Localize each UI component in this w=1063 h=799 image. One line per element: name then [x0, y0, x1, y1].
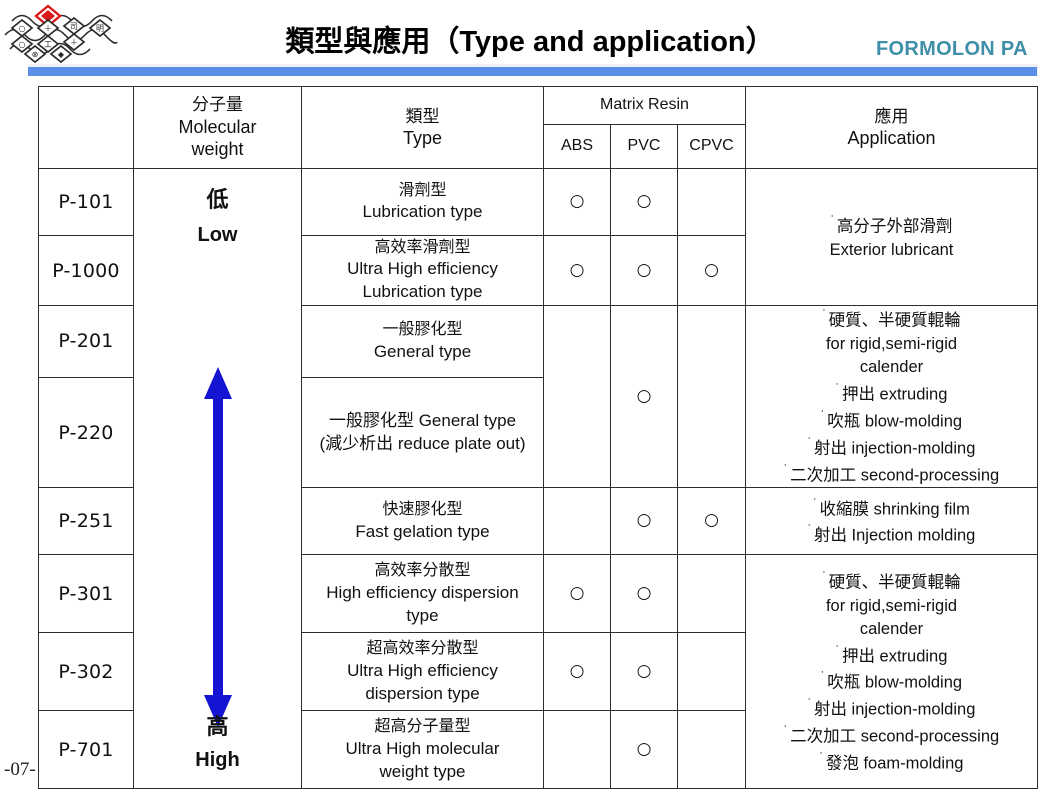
app-line: ˙吹瓶 blow-molding: [746, 668, 1037, 695]
row-code: P-301: [39, 555, 134, 633]
molecular-weight-scale: 低 Low 高 High: [134, 169, 302, 789]
row-type-en: Lubrication type: [302, 201, 543, 224]
app-line: ˙硬質、半硬質輥輪: [746, 306, 1037, 333]
mark-pvc: ○: [611, 236, 678, 306]
row-type-en: 一般膠化型 General type: [302, 410, 543, 433]
bullet-icon: ˙: [821, 669, 825, 684]
mark-pvc: ○: [611, 711, 678, 789]
app-line: ˙發泡 foam-molding: [746, 749, 1037, 776]
header-mw-cn: 分子量: [134, 94, 301, 115]
row-code: P-101: [39, 169, 134, 236]
bullet-icon: ˙: [784, 723, 788, 738]
svg-text:＋: ＋: [44, 24, 52, 33]
header-cpvc: CPVC: [678, 125, 746, 169]
row-type-en: Ultra High efficiency: [302, 258, 543, 281]
mark-abs: [544, 306, 611, 488]
mark-cpvc: ○: [678, 236, 746, 306]
app-line: ˙二次加工 second-processing: [746, 461, 1037, 488]
app-line: ˙硬質、半硬質輥輪: [746, 568, 1037, 595]
bullet-icon: ˙: [822, 569, 826, 584]
app-line: ˙二次加工 second-processing: [746, 722, 1037, 749]
bullet-icon: ˙: [821, 408, 825, 423]
mark-abs: [544, 488, 611, 555]
row-type-en: type: [302, 605, 543, 628]
mark-cpvc: [678, 169, 746, 236]
svg-text:○: ○: [19, 24, 26, 33]
header-type-cn: 類型: [302, 106, 543, 127]
mark-abs: ○: [544, 169, 611, 236]
application-lubricant: ˙高分子外部滑劑 Exterior lubricant: [746, 169, 1038, 306]
header-matrix-resin: Matrix Resin: [544, 87, 746, 125]
mark-pvc: ○: [611, 488, 678, 555]
bullet-icon: ˙: [784, 462, 788, 477]
page-number: -07-: [4, 759, 36, 781]
row-type-en: General type: [302, 341, 543, 364]
brand-label: FORMOLON PA: [876, 38, 1028, 61]
header-rule: [28, 67, 1037, 76]
svg-text:＋: ＋: [70, 38, 78, 47]
app-line: ˙射出 injection-molding: [746, 695, 1037, 722]
header-code: [39, 87, 134, 169]
header-matrix-resin-label: Matrix Resin: [600, 96, 689, 113]
app-line: ˙押出 extruding: [746, 380, 1037, 407]
application-fast-gelation: ˙收縮膜 shrinking film ˙射出 Injection moldin…: [746, 488, 1038, 555]
svg-text:司: 司: [70, 22, 78, 31]
row-type-cn: 滑劑型: [302, 180, 543, 202]
row-type: 高效率滑劑型 Ultra High efficiency Lubrication…: [302, 236, 544, 306]
row-type-en: High efficiency dispersion: [302, 582, 543, 605]
bullet-icon: ˙: [836, 381, 840, 396]
bullet-icon: ˙: [808, 435, 812, 450]
header-abs: ABS: [544, 125, 611, 169]
header-mw-en-2: weight: [134, 138, 301, 161]
mark-abs: ○: [544, 236, 611, 306]
mark-cpvc: [678, 711, 746, 789]
mark-cpvc: ○: [678, 488, 746, 555]
row-code: P-220: [39, 377, 134, 488]
bullet-icon: ˙: [820, 750, 824, 765]
row-type-en: Fast gelation type: [302, 521, 543, 544]
row-type-en: Lubrication type: [302, 281, 543, 304]
header-app-en: Application: [746, 127, 1037, 150]
row-type: 一般膠化型 General type (減少析出 reduce plate ou…: [302, 377, 544, 488]
row-code: P-1000: [39, 236, 134, 306]
mark-pvc: ○: [611, 306, 678, 488]
row-type-en: Ultra High efficiency: [302, 660, 543, 683]
header-type-en: Type: [302, 127, 543, 150]
application-general: ˙硬質、半硬質輥輪 for rigid,semi-rigid calender …: [746, 306, 1038, 488]
slide-header: ○ ＋ 司 明 ○ 工 ＋ ⊗ ◆ 類型與應用（Type and applica…: [0, 0, 1063, 80]
app-line: Exterior lubricant: [746, 239, 1037, 262]
header-pvc: PVC: [611, 125, 678, 169]
mw-high-en: High: [134, 750, 301, 770]
app-line: ˙射出 injection-molding: [746, 434, 1037, 461]
row-type-en: dispersion type: [302, 683, 543, 706]
mark-abs: ○: [544, 555, 611, 633]
app-line: ˙吹瓶 blow-molding: [746, 407, 1037, 434]
mark-cpvc: [678, 555, 746, 633]
mark-cpvc: [678, 633, 746, 711]
app-line: ˙收縮膜 shrinking film: [746, 495, 1037, 522]
header-mw-en-1: Molecular: [134, 116, 301, 139]
svg-text:○: ○: [19, 40, 26, 49]
formosa-plastics-group-logo-icon: ○ ＋ 司 明 ○ 工 ＋ ⊗ ◆: [2, 2, 120, 64]
bullet-icon: ˙: [831, 213, 835, 228]
app-line: for rigid,semi-rigid: [746, 595, 1037, 618]
row-type: 超高分子量型 Ultra High molecular weight type: [302, 711, 544, 789]
bullet-icon: ˙: [836, 643, 840, 658]
bullet-icon: ˙: [822, 307, 826, 322]
row-code: P-701: [39, 711, 134, 789]
row-type-en: weight type: [302, 761, 543, 784]
mark-cpvc: [678, 306, 746, 488]
app-line: ˙押出 extruding: [746, 642, 1037, 669]
row-type: 一般膠化型 General type: [302, 306, 544, 378]
row-type-en: Ultra High molecular: [302, 738, 543, 761]
row-type-en: (減少析出 reduce plate out): [302, 433, 543, 456]
row-type-cn: 超高效率分散型: [302, 638, 543, 660]
svg-text:明: 明: [96, 24, 104, 33]
row-type-cn: 高效率滑劑型: [302, 237, 543, 259]
mark-pvc: ○: [611, 633, 678, 711]
application-dispersion: ˙硬質、半硬質輥輪 for rigid,semi-rigid calender …: [746, 555, 1038, 789]
app-line: ˙高分子外部滑劑: [746, 212, 1037, 239]
bullet-icon: ˙: [808, 522, 812, 537]
app-line: ˙射出 Injection molding: [746, 521, 1037, 548]
row-type-cn: 快速膠化型: [302, 499, 543, 521]
row-code: P-302: [39, 633, 134, 711]
row-code: P-201: [39, 306, 134, 378]
row-type-cn: 高效率分散型: [302, 560, 543, 582]
app-line: for rigid,semi-rigid: [746, 333, 1037, 356]
header-application: 應用 Application: [746, 87, 1038, 169]
type-and-application-table: 分子量 Molecular weight 類型 Type Matrix Resi…: [38, 86, 1038, 789]
mark-pvc: ○: [611, 169, 678, 236]
double-headed-vertical-arrow-icon: [198, 367, 238, 732]
row-type: 高效率分散型 High efficiency dispersion type: [302, 555, 544, 633]
mark-abs: ○: [544, 633, 611, 711]
header-molecular-weight: 分子量 Molecular weight: [134, 87, 302, 169]
svg-text:工: 工: [44, 40, 52, 49]
mark-abs: [544, 711, 611, 789]
header-type: 類型 Type: [302, 87, 544, 169]
row-type-cn: 一般膠化型: [302, 319, 543, 341]
row-type-cn: 超高分子量型: [302, 716, 543, 738]
row-code: P-251: [39, 488, 134, 555]
table-header-row: 分子量 Molecular weight 類型 Type Matrix Resi…: [39, 87, 1038, 125]
row-type: 快速膠化型 Fast gelation type: [302, 488, 544, 555]
mw-low-en: Low: [198, 225, 238, 245]
mark-pvc: ○: [611, 555, 678, 633]
app-line: calender: [746, 356, 1037, 379]
bullet-icon: ˙: [813, 496, 817, 511]
bullet-icon: ˙: [808, 696, 812, 711]
page-title: 類型與應用（Type and application）: [200, 16, 860, 62]
svg-text:⊗: ⊗: [32, 50, 39, 59]
mw-high-cn: 高: [134, 716, 301, 738]
header-app-cn: 應用: [746, 106, 1037, 127]
app-line: calender: [746, 618, 1037, 641]
row-type: 滑劑型 Lubrication type: [302, 169, 544, 236]
mw-low-cn: 低: [206, 189, 228, 211]
svg-text:◆: ◆: [58, 50, 65, 59]
table-row: P-101 低 Low 高 High 滑劑型 Lubrication type: [39, 169, 1038, 236]
row-type: 超高效率分散型 Ultra High efficiency dispersion…: [302, 633, 544, 711]
